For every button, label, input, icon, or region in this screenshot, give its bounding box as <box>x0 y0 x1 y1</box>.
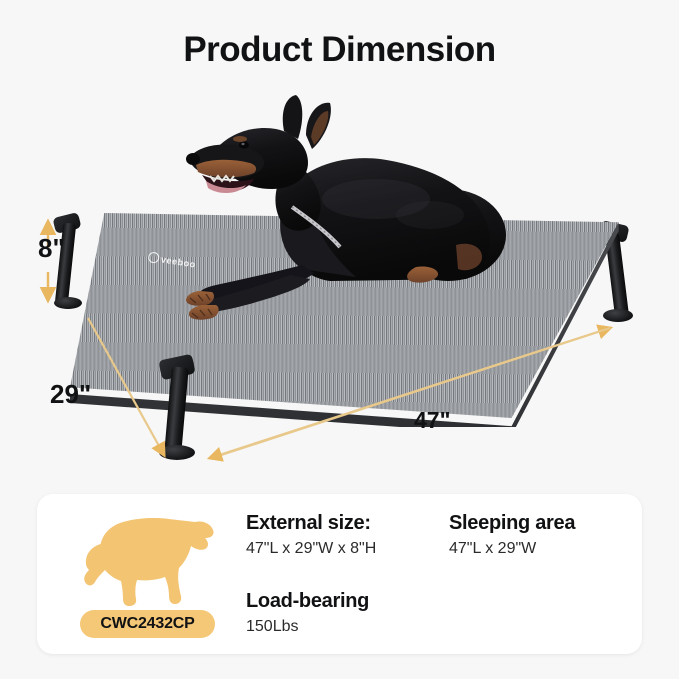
spec-sleeping-value: 47"L x 29"W <box>449 540 575 558</box>
spec-sleeping-area: Sleeping area 47"L x 29"W <box>449 512 575 558</box>
spec-info-card: CWC2432CP External size: 47"L x 29"W x 8… <box>37 494 642 654</box>
dog-silhouette-icon <box>77 504 217 609</box>
spec-load-bearing: Load-bearing 150Lbs <box>246 590 369 636</box>
spec-load-value: 150Lbs <box>246 618 369 636</box>
page-title: Product Dimension <box>0 30 679 70</box>
spec-external-size: External size: 47"L x 29"W x 8"H <box>246 512 376 558</box>
spec-sleeping-heading: Sleeping area <box>449 512 575 535</box>
product-scene: veeboo <box>0 95 679 485</box>
doberman-photo <box>180 95 520 325</box>
spec-external-value: 47"L x 29"W x 8"H <box>246 540 376 558</box>
product-dimension-infographic: Product Dimension veeboo <box>0 0 679 679</box>
foot-back-left <box>54 297 82 309</box>
dimension-label-width: 29" <box>50 379 91 410</box>
dimension-label-height: 8" <box>38 233 65 264</box>
spec-external-heading: External size: <box>246 512 376 535</box>
dimension-label-length: 47" <box>414 407 451 434</box>
model-number-badge: CWC2432CP <box>80 610 215 638</box>
paw-circle-icon <box>147 251 160 264</box>
spec-load-heading: Load-bearing <box>246 590 369 613</box>
foot-front-left <box>159 445 195 460</box>
foot-back-right <box>603 309 633 322</box>
